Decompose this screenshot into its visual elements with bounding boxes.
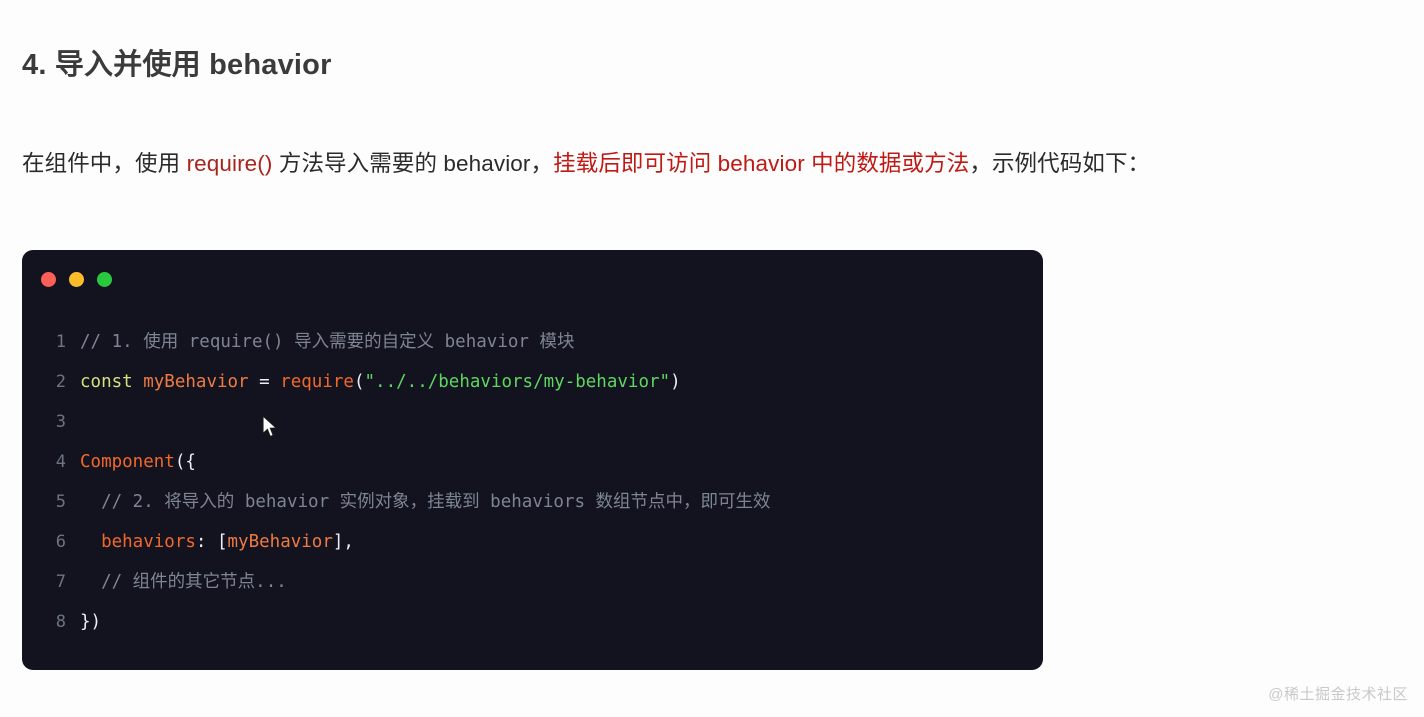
code-line-number: 7 [22, 562, 80, 602]
code-token [80, 532, 101, 552]
code-token: : [ [196, 532, 228, 552]
code-token: ( [354, 372, 365, 392]
code-line[interactable]: 3 [22, 402, 1043, 442]
code-line-text: behaviors: [myBehavior], [80, 522, 354, 562]
code-line-text: // 1. 使用 require() 导入需要的自定义 behavior 模块 [80, 322, 574, 362]
code-line-text: // 组件的其它节点... [80, 562, 287, 602]
window-controls [41, 272, 112, 287]
watermark: @稀土掘金技术社区 [1268, 683, 1408, 704]
code-line-number: 6 [22, 522, 80, 562]
code-line-text: const myBehavior = require("../../behavi… [80, 362, 681, 402]
minimize-dot-icon[interactable] [69, 272, 84, 287]
code-token: ], [333, 532, 354, 552]
code-line-number: 1 [22, 322, 80, 362]
code-token: // 组件的其它节点... [80, 572, 287, 592]
maximize-dot-icon[interactable] [97, 272, 112, 287]
code-line[interactable]: 6 behaviors: [myBehavior], [22, 522, 1043, 562]
code-line-number: 3 [22, 402, 80, 442]
intro-paragraph: 在组件中，使用 require() 方法导入需要的 behavior，挂载后即可… [22, 139, 1402, 189]
code-token: }) [80, 612, 101, 632]
paragraph-highlight: 挂载后即可访问 behavior 中的数据或方法 [553, 151, 969, 176]
code-line-number: 5 [22, 482, 80, 522]
page-title: 4. 导入并使用 behavior [22, 41, 332, 83]
code-line[interactable]: 2const myBehavior = require("../../behav… [22, 362, 1043, 402]
code-token: // 2. 将导入的 behavior 实例对象，挂载到 behaviors 数… [80, 492, 771, 512]
code-token: require [280, 372, 354, 392]
code-line-number: 8 [22, 602, 80, 642]
close-dot-icon[interactable] [41, 272, 56, 287]
code-token: myBehavior [143, 372, 248, 392]
code-line[interactable]: 7 // 组件的其它节点... [22, 562, 1043, 602]
paragraph-text-part1: 在组件中，使用 [22, 151, 187, 176]
code-line[interactable]: 8}) [22, 602, 1043, 642]
code-token: = [249, 372, 281, 392]
code-line[interactable]: 4Component({ [22, 442, 1043, 482]
code-content[interactable]: 1// 1. 使用 require() 导入需要的自定义 behavior 模块… [22, 322, 1043, 642]
code-token: ({ [175, 452, 196, 472]
inline-code-require: require() [187, 151, 273, 176]
document-page: 4. 导入并使用 behavior 在组件中，使用 require() 方法导入… [0, 0, 1424, 717]
code-line-text: }) [80, 602, 101, 642]
code-token: myBehavior [228, 532, 333, 552]
code-token: behaviors [101, 532, 196, 552]
code-token: // 1. 使用 require() 导入需要的自定义 behavior 模块 [80, 332, 574, 352]
code-token: const [80, 372, 133, 392]
code-token [133, 372, 144, 392]
code-line-text: // 2. 将导入的 behavior 实例对象，挂载到 behaviors 数… [80, 482, 771, 522]
code-token: "../../behaviors/my-behavior" [365, 372, 671, 392]
code-line-text: Component({ [80, 442, 196, 482]
code-line-number: 4 [22, 442, 80, 482]
code-token: Component [80, 452, 175, 472]
code-line-number: 2 [22, 362, 80, 402]
paragraph-text-part3: ，示例代码如下： [969, 151, 1150, 176]
code-line[interactable]: 5 // 2. 将导入的 behavior 实例对象，挂载到 behaviors… [22, 482, 1043, 522]
code-token: ) [670, 372, 681, 392]
code-line[interactable]: 1// 1. 使用 require() 导入需要的自定义 behavior 模块 [22, 322, 1043, 362]
paragraph-text-part2: 方法导入需要的 behavior， [273, 151, 554, 176]
